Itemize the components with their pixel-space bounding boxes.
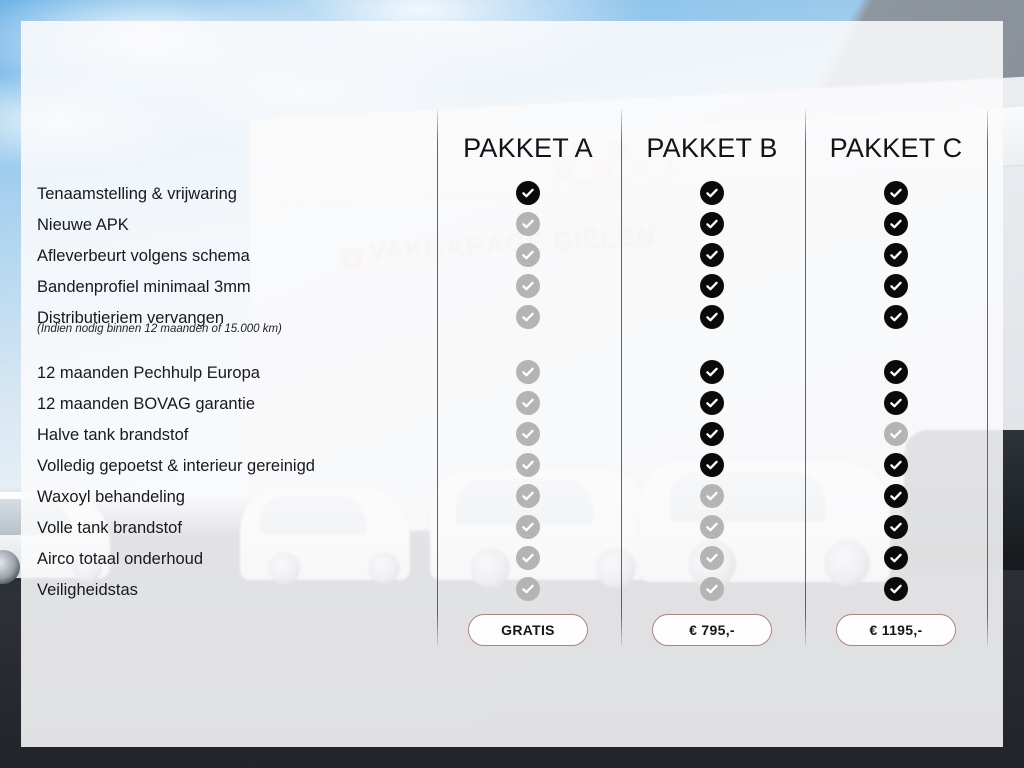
- price-button-c[interactable]: € 1195,-: [836, 614, 956, 646]
- feature-label: Volledig gepoetst & interieur gereinigd: [37, 458, 315, 475]
- check-circle-icon: [700, 484, 724, 508]
- check-circle-icon: [884, 212, 908, 236]
- check-circle-icon: [516, 422, 540, 446]
- check-circle-icon: [884, 484, 908, 508]
- check-circle-icon: [884, 360, 908, 384]
- column-divider-3: [987, 110, 988, 646]
- feature-label: Volle tank brandstof: [37, 520, 182, 537]
- content-panel: PAKKET APAKKET BPAKKET CTenaamstelling &…: [21, 21, 1003, 747]
- check-circle-icon: [884, 274, 908, 298]
- feature-label: 12 maanden BOVAG garantie: [37, 396, 255, 413]
- check-circle-icon: [884, 243, 908, 267]
- check-circle-icon: [516, 181, 540, 205]
- check-circle-icon: [884, 305, 908, 329]
- check-circle-icon: [700, 391, 724, 415]
- feature-label: Tenaamstelling & vrijwaring: [37, 186, 237, 203]
- feature-label: 12 maanden Pechhulp Europa: [37, 365, 260, 382]
- check-circle-icon: [884, 391, 908, 415]
- check-circle-icon: [884, 546, 908, 570]
- feature-label: Halve tank brandstof: [37, 427, 188, 444]
- check-circle-icon: [516, 546, 540, 570]
- feature-label: Bandenprofiel minimaal 3mm: [37, 279, 251, 296]
- check-circle-icon: [516, 305, 540, 329]
- check-circle-icon: [884, 181, 908, 205]
- check-circle-icon: [516, 391, 540, 415]
- check-circle-icon: [884, 577, 908, 601]
- check-circle-icon: [700, 453, 724, 477]
- column-divider-1: [621, 110, 622, 646]
- package-comparison-table: PAKKET APAKKET BPAKKET CTenaamstelling &…: [21, 21, 1003, 747]
- check-circle-icon: [700, 422, 724, 446]
- check-circle-icon: [516, 360, 540, 384]
- check-circle-icon: [884, 515, 908, 539]
- check-circle-icon: [884, 453, 908, 477]
- check-circle-icon: [700, 274, 724, 298]
- check-circle-icon: [700, 515, 724, 539]
- feature-label: Nieuwe APK: [37, 217, 129, 234]
- check-circle-icon: [700, 181, 724, 205]
- check-circle-icon: [700, 305, 724, 329]
- feature-label: Afleverbeurt volgens schema: [37, 248, 250, 265]
- check-circle-icon: [516, 453, 540, 477]
- check-circle-icon: [516, 243, 540, 267]
- check-circle-icon: [700, 243, 724, 267]
- price-button-b[interactable]: € 795,-: [652, 614, 772, 646]
- check-circle-icon: [516, 274, 540, 298]
- check-circle-icon: [884, 422, 908, 446]
- check-circle-icon: [700, 212, 724, 236]
- check-circle-icon: [516, 484, 540, 508]
- check-circle-icon: [516, 577, 540, 601]
- check-circle-icon: [516, 515, 540, 539]
- column-header-a: PAKKET A: [437, 133, 619, 164]
- check-circle-icon: [700, 360, 724, 384]
- check-circle-icon: [700, 546, 724, 570]
- column-header-b: PAKKET B: [621, 133, 803, 164]
- column-divider-2: [805, 110, 806, 646]
- column-header-c: PAKKET C: [805, 133, 987, 164]
- column-divider-0: [437, 110, 438, 646]
- check-circle-icon: [700, 577, 724, 601]
- feature-label: Veiligheidstas: [37, 582, 138, 599]
- price-button-a[interactable]: GRATIS: [468, 614, 588, 646]
- feature-footnote: (Indien nodig binnen 12 maanden of 15.00…: [37, 324, 282, 336]
- feature-label: Airco totaal onderhoud: [37, 551, 203, 568]
- feature-label: Waxoyl behandeling: [37, 489, 185, 506]
- check-circle-icon: [516, 212, 540, 236]
